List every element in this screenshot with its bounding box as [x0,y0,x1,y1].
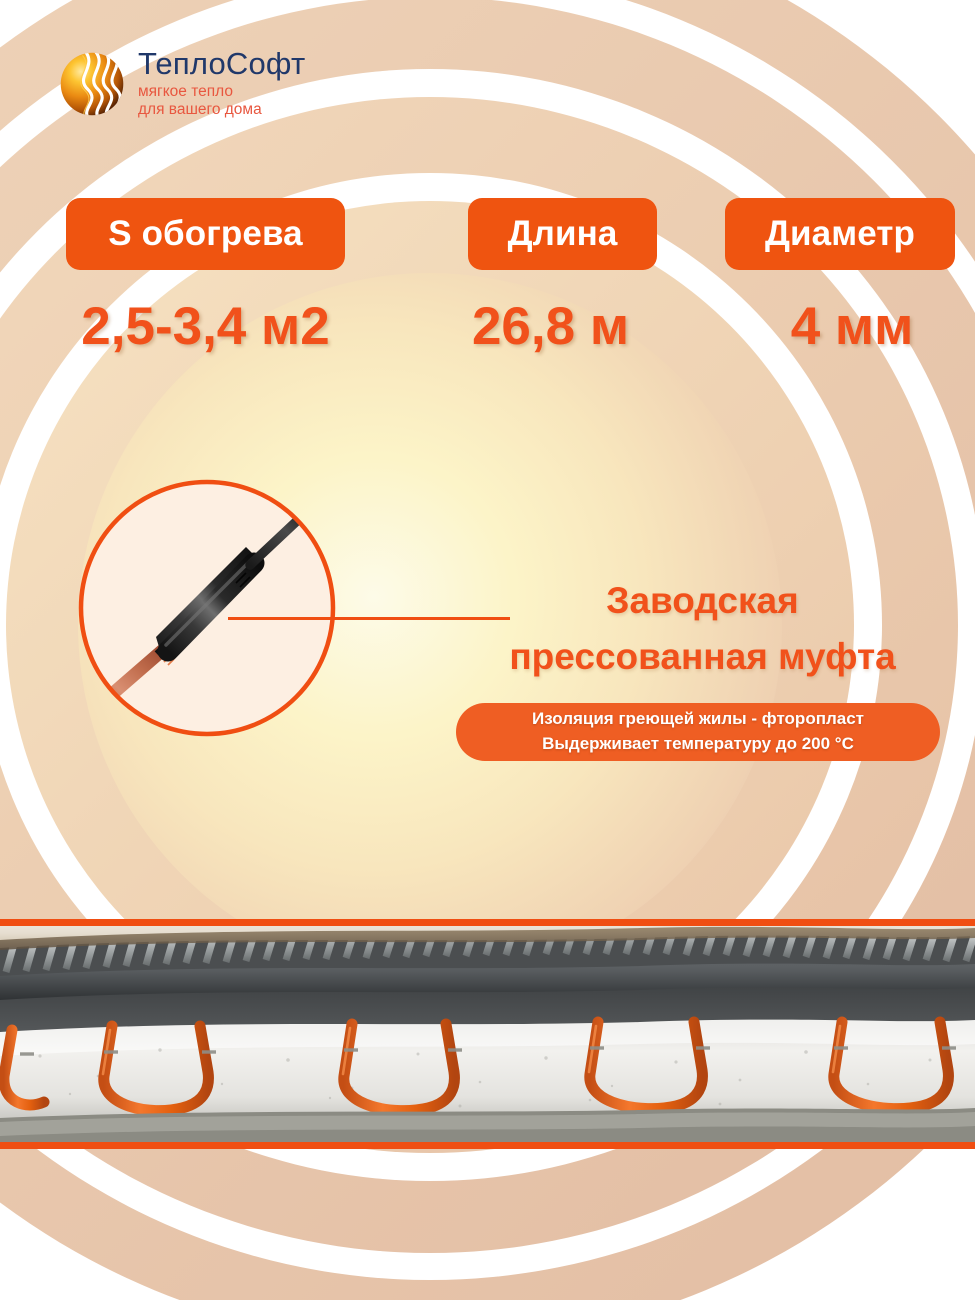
spec-item-diameter: Диаметр 4 мм [725,198,955,357]
brand-wordmark: ТеплоСофт мягкое тепло для вашего дома [138,48,305,119]
feature-headline: Заводская прессованная муфта [455,573,950,685]
brand-tagline-line1: мягкое тепло [138,83,233,100]
insulation-info-line1: Изоляция греющей жилы - фторопласт [532,707,864,732]
photo-bottom-rule [0,1142,975,1149]
cable-coupling-magnifier-icon [76,477,338,739]
spec-item-length: Длина 26,8 м [468,198,657,357]
brand-logo[interactable]: ТеплоСофт мягкое тепло для вашего дома [58,48,305,119]
spec-badges-row: S обогрева 2,5-3,4 м2 Длина 26,8 м Диаме… [0,198,975,378]
spec-label-length: Длина [468,198,657,270]
spec-value-diameter: 4 мм [737,296,967,357]
insulation-info-line2: Выдерживает температуру до 200 °C [542,732,854,757]
brand-tagline: мягкое тепло для вашего дома [138,83,305,119]
spec-label-diameter: Диаметр [725,198,955,270]
sun-sphere-waves-icon [58,50,126,118]
feature-headline-line1: Заводская [606,580,798,621]
spec-value-area: 2,5-3,4 м2 [66,296,345,357]
spec-label-area: S обогрева [66,198,345,270]
spec-value-length: 26,8 м [456,296,645,357]
brand-name: ТеплоСофт [138,48,305,80]
spec-item-area: S обогрева 2,5-3,4 м2 [66,198,345,357]
insulation-info-badge: Изоляция греющей жилы - фторопласт Выдер… [456,703,940,761]
photo-top-rule [0,919,975,926]
brand-tagline-line2: для вашего дома [138,101,262,118]
feature-headline-line2: прессованная муфта [455,629,950,685]
heating-cable-floor-cross-section-photo [0,926,975,1142]
